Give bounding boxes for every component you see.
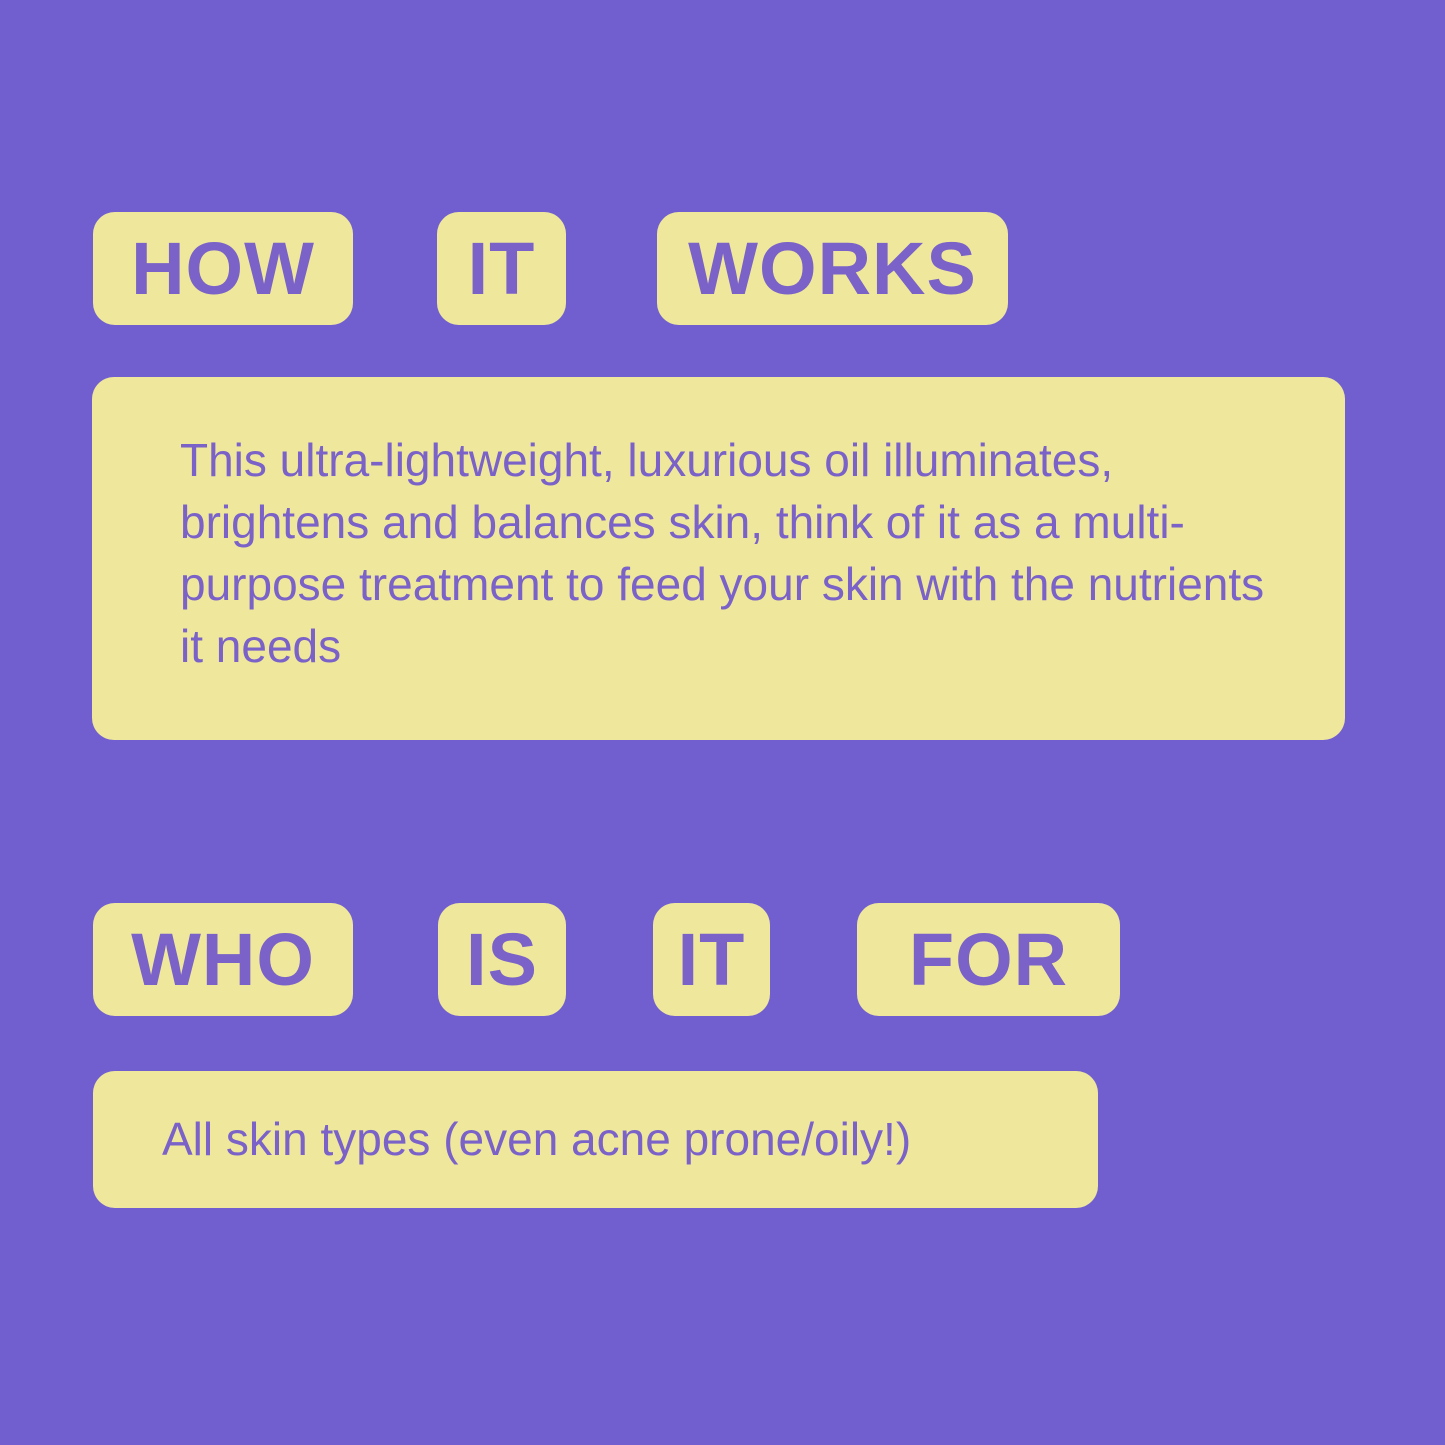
who-is-it-for-answer-panel: All skin types (even acne prone/oily!)	[93, 1071, 1098, 1208]
heading-word-label: WORKS	[688, 232, 977, 306]
infographic-canvas: HOW IT WORKS This ultra-lightweight, lux…	[0, 0, 1445, 1445]
who-is-it-for-answer-text: All skin types (even acne prone/oily!)	[162, 1114, 911, 1165]
heading-word-pill-who: WHO	[93, 903, 353, 1016]
heading-word-label: FOR	[909, 923, 1068, 997]
heading-word-pill-works: WORKS	[657, 212, 1008, 325]
heading-word-label: IT	[678, 923, 746, 997]
heading-word-label: HOW	[131, 232, 315, 306]
section-heading-who-is-it-for: WHO IS IT FOR	[93, 903, 1120, 1016]
heading-word-pill-it: IT	[437, 212, 566, 325]
heading-word-label: IS	[466, 923, 538, 997]
section-heading-how-it-works: HOW IT WORKS	[93, 212, 1008, 325]
heading-word-pill-for: FOR	[857, 903, 1120, 1016]
heading-word-pill-it: IT	[653, 903, 770, 1016]
how-it-works-body-text: This ultra-lightweight, luxurious oil il…	[180, 429, 1285, 677]
heading-word-pill-is: IS	[438, 903, 566, 1016]
heading-word-label: IT	[468, 232, 536, 306]
heading-word-label: WHO	[131, 923, 315, 997]
how-it-works-body-panel: This ultra-lightweight, luxurious oil il…	[92, 377, 1345, 740]
heading-word-pill-how: HOW	[93, 212, 353, 325]
